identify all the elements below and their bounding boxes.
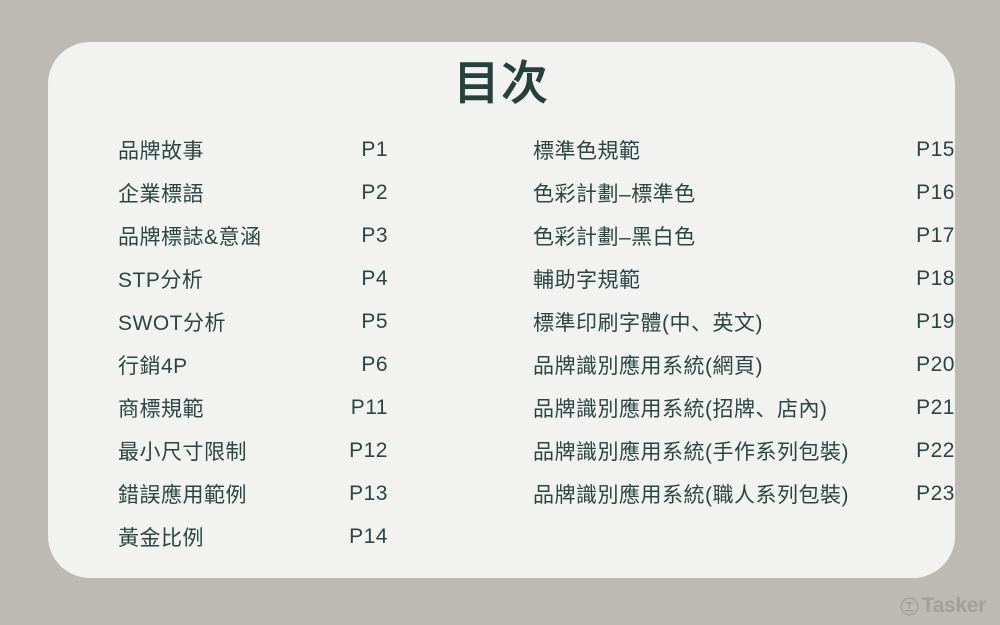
toc-row[interactable]: SWOT分析 P5 [118,300,448,343]
toc-item-label: 品牌標誌&意涵 [118,221,318,251]
toc-item-label: 品牌故事 [118,135,318,165]
toc-row[interactable]: 輔助字規範 P18 [533,257,955,300]
toc-row[interactable]: 品牌故事 P1 [118,128,448,171]
toc-item-label: SWOT分析 [118,307,318,337]
toc-row[interactable]: 錯誤應用範例 P13 [118,472,448,515]
toc-item-label: 品牌識別應用系統(職人系列包裝) [533,479,849,509]
toc-row[interactable]: STP分析 P4 [118,257,448,300]
toc-row[interactable]: 企業標語 P2 [118,171,448,214]
toc-row[interactable]: 行銷4P P6 [118,343,448,386]
toc-item-label: 商標規範 [118,393,318,423]
toc-row[interactable]: 標準色規範 P15 [533,128,955,171]
toc-row[interactable]: 品牌識別應用系統(招牌、店內) P21 [533,386,955,429]
toc-item-page: P23 [906,482,955,506]
toc-item-page: P14 [318,525,388,549]
toc-column-right: 標準色規範 P15 色彩計劃–標準色 P16 色彩計劃–黑白色 P17 輔助字規… [533,128,955,515]
toc-item-label: 最小尺寸限制 [118,436,318,466]
toc-item-page: P11 [318,396,388,420]
toc-row[interactable]: 黃金比例 P14 [118,515,448,558]
toc-row[interactable]: 色彩計劃–標準色 P16 [533,171,955,214]
toc-item-label: 色彩計劃–標準色 [533,178,696,208]
toc-item-label: 品牌識別應用系統(網頁) [533,350,763,380]
toc-item-page: P5 [318,310,388,334]
watermark-label: Tasker [922,594,986,618]
toc-item-page: P21 [906,396,955,420]
toc-item-label: 品牌識別應用系統(手作系列包裝) [533,436,849,466]
slide-card: 目次 品牌故事 P1 企業標語 P2 品牌標誌&意涵 P3 STP分析 P4 S… [48,42,955,578]
toc-item-page: P12 [318,439,388,463]
toc-item-label: 色彩計劃–黑白色 [533,221,696,251]
watermark: Tasker [900,594,986,618]
toc-item-page: P20 [906,353,955,377]
page-title: 目次 [48,60,955,106]
toc-row[interactable]: 品牌標誌&意涵 P3 [118,214,448,257]
toc-item-page: P6 [318,353,388,377]
toc-item-page: P3 [318,224,388,248]
toc-item-label: 行銷4P [118,350,318,380]
toc-item-page: P18 [906,267,955,291]
toc-item-page: P19 [906,310,955,334]
toc-item-page: P2 [318,181,388,205]
toc-item-page: P15 [906,138,955,162]
toc-item-label: STP分析 [118,264,318,294]
table-of-contents: 品牌故事 P1 企業標語 P2 品牌標誌&意涵 P3 STP分析 P4 SWOT… [48,128,955,578]
toc-item-label: 標準印刷字體(中、英文) [533,307,763,337]
toc-item-page: P16 [906,181,955,205]
toc-row[interactable]: 色彩計劃–黑白色 P17 [533,214,955,257]
toc-item-page: P4 [318,267,388,291]
toc-row[interactable]: 最小尺寸限制 P12 [118,429,448,472]
toc-item-label: 標準色規範 [533,135,641,165]
toc-row[interactable]: 品牌識別應用系統(手作系列包裝) P22 [533,429,955,472]
toc-column-left: 品牌故事 P1 企業標語 P2 品牌標誌&意涵 P3 STP分析 P4 SWOT… [118,128,448,558]
toc-row[interactable]: 品牌識別應用系統(職人系列包裝) P23 [533,472,955,515]
toc-item-label: 錯誤應用範例 [118,479,318,509]
toc-item-label: 品牌識別應用系統(招牌、店內) [533,393,828,423]
toc-row[interactable]: 商標規範 P11 [118,386,448,429]
toc-item-label: 黃金比例 [118,522,318,552]
toc-item-page: P13 [318,482,388,506]
toc-item-page: P1 [318,138,388,162]
toc-item-label: 企業標語 [118,178,318,208]
toc-row[interactable]: 品牌識別應用系統(網頁) P20 [533,343,955,386]
toc-item-label: 輔助字規範 [533,264,641,294]
toc-row[interactable]: 標準印刷字體(中、英文) P19 [533,300,955,343]
toc-item-page: P17 [906,224,955,248]
toc-item-page: P22 [906,439,955,463]
tasker-logo-icon [900,597,919,616]
